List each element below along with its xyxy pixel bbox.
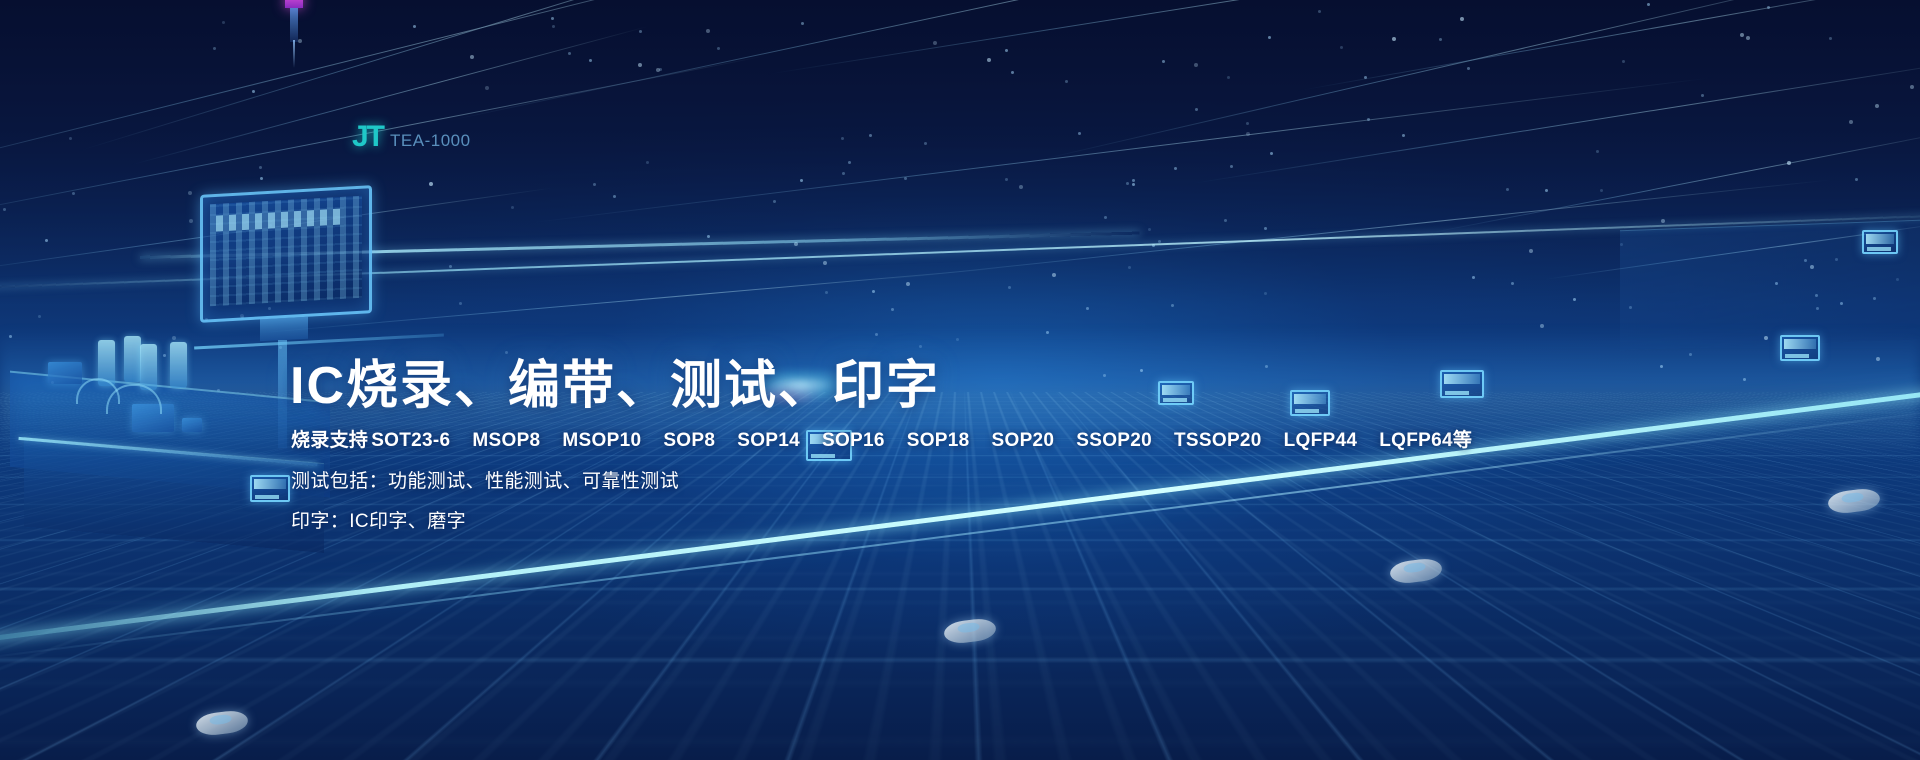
package-type: SOP16 [822,430,885,451]
logo-model-name: TEA-1000 [390,132,471,149]
hero-banner: JT TEA-1000 IC烧录、编带、测试、印字 烧录支持 SOT23-6MS… [0,0,1920,760]
package-list-suffix: 等 [1453,430,1472,451]
package-type: SOT23-6 [371,430,450,451]
package-type: MSOP10 [562,430,641,451]
banner-content: JT TEA-1000 IC烧录、编带、测试、印字 烧录支持 SOT23-6MS… [0,0,1920,760]
packages-lead-label: 烧录支持 [291,428,368,455]
package-type: SOP8 [663,430,715,451]
package-type: SSOP20 [1076,430,1152,451]
spec-list: 烧录支持 SOT23-6MSOP8MSOP10SOP8SOP14SOP16SOP… [291,428,1472,536]
package-type: LQFP64 [1379,430,1453,451]
package-type: SOP18 [907,430,970,451]
jt-logo: JT TEA-1000 [352,122,471,152]
package-type: LQFP44 [1284,430,1358,451]
package-type: TSSOP20 [1174,430,1262,451]
spec-line-marking: 印字：IC印字、磨字 [291,509,1472,536]
page-title: IC烧录、编带、测试、印字 [290,357,940,417]
package-type: SOP20 [992,430,1055,451]
package-type: MSOP8 [472,430,540,451]
package-type: SOP14 [737,430,800,451]
package-list: SOT23-6MSOP8MSOP10SOP8SOP14SOP16SOP18SOP… [371,428,1472,455]
spec-line-testing: 测试包括：功能测试、性能测试、可靠性测试 [291,469,1472,496]
logo-mark: JT [352,122,383,152]
spec-line-packages: 烧录支持 SOT23-6MSOP8MSOP10SOP8SOP14SOP16SOP… [291,428,1472,455]
